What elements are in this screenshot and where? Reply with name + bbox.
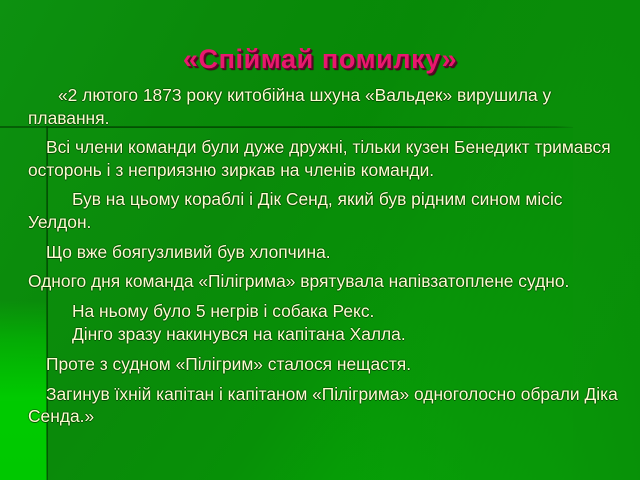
paragraph-5: Одного дня команда «Пілігрима» врятувала… [28, 270, 618, 293]
paragraph-3: Був на цьому кораблі і Дік Сенд, який бу… [28, 188, 618, 233]
paragraph-9: Загинув їхній капітан і капітаном «Піліг… [28, 383, 618, 428]
slide-content: «Спіймай помилку» «2 лютого 1873 року ки… [0, 0, 640, 480]
paragraph-8: Проте з судном «Пілігрим» сталося нещаст… [28, 353, 618, 376]
paragraph-6: На ньому було 5 негрів і собака Рекс. [28, 300, 618, 323]
slide-title: «Спіймай помилку» [0, 44, 640, 75]
paragraph-1: «2 лютого 1873 року китобійна шхуна «Вал… [28, 84, 618, 129]
paragraph-2: Всі члени команди були дуже дружні, тіль… [28, 136, 618, 181]
slide-body-text: «2 лютого 1873 року китобійна шхуна «Вал… [28, 84, 618, 429]
paragraph-7: Дінго зразу накинувся на капітана Халла. [28, 323, 618, 346]
paragraph-4: Що вже боягузливий був хлопчина. [28, 241, 618, 264]
presentation-slide: «Спіймай помилку» «2 лютого 1873 року ки… [0, 0, 640, 480]
